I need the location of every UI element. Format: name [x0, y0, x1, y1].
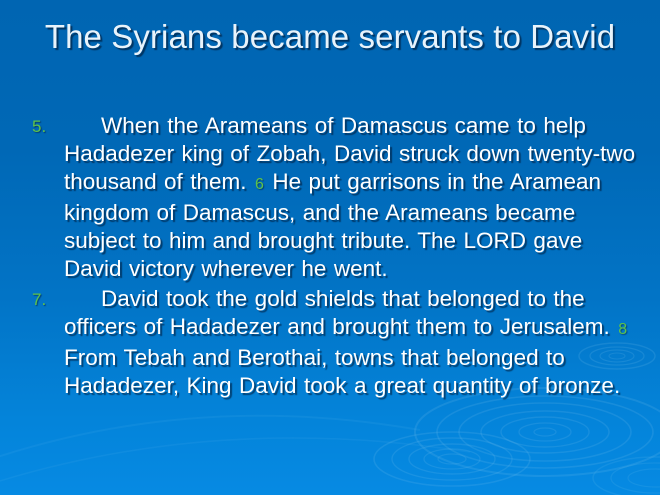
body-text-run: From Tebah and Berothai, towns that belo…: [64, 345, 620, 398]
body-paragraph: 7.David took the gold shields that belon…: [26, 285, 640, 400]
verse-number: 6: [254, 176, 265, 193]
paragraph-number: 5.: [32, 113, 46, 141]
verse-number: 8: [617, 321, 628, 338]
paragraph-number: 7.: [32, 286, 46, 314]
body-paragraph: 5.When the Arameans of Damascus came to …: [26, 112, 640, 283]
presentation-slide: The Syrians became servants to David 5.W…: [0, 0, 660, 495]
slide-body: 5.When the Arameans of Damascus came to …: [26, 112, 640, 402]
slide-title: The Syrians became servants to David: [18, 16, 642, 57]
body-text-run: David took the gold shields that belonge…: [64, 286, 617, 339]
